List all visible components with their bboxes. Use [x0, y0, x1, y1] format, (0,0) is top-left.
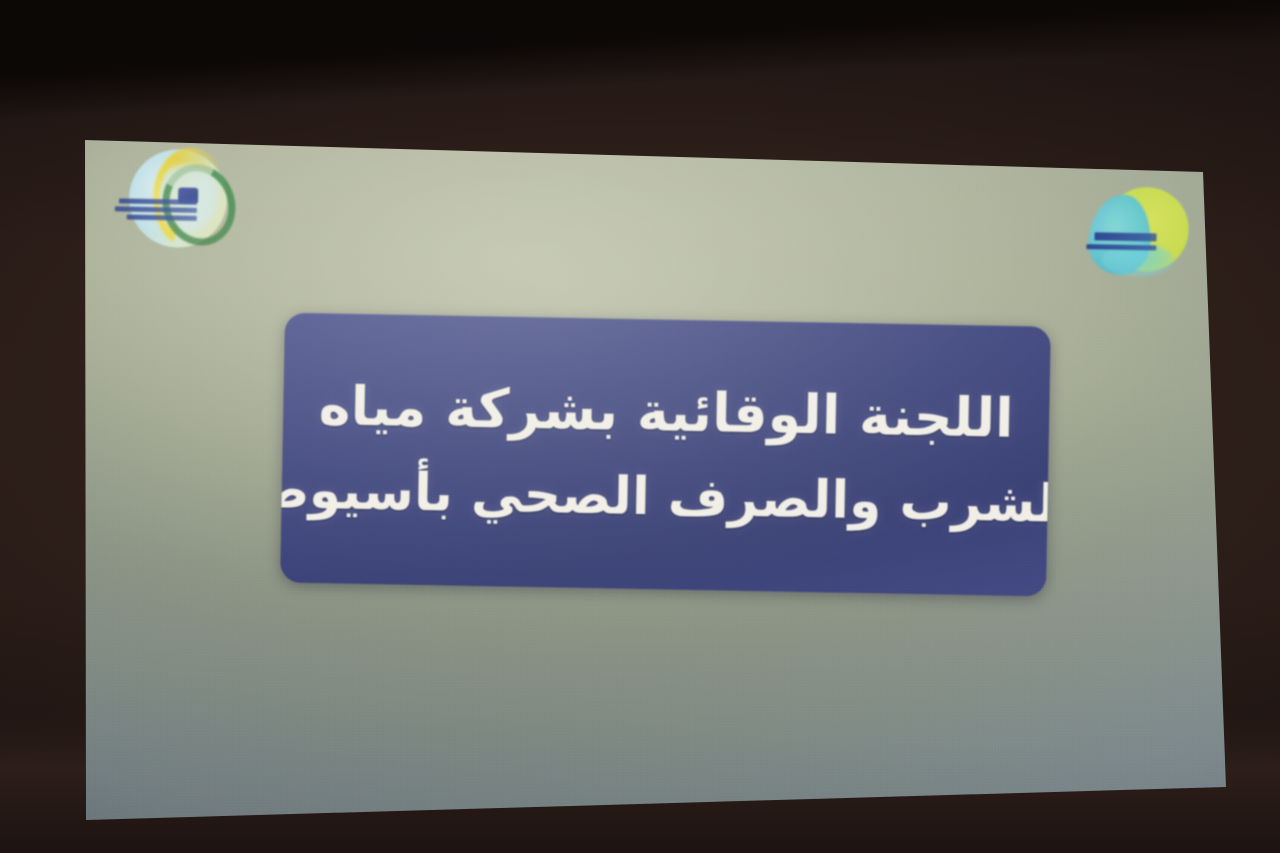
screenshot-root: اللجنة الوقائية بشركة مياه الشرب والصرف … [0, 0, 1280, 853]
ceiling-shadow-band [0, 0, 1280, 120]
